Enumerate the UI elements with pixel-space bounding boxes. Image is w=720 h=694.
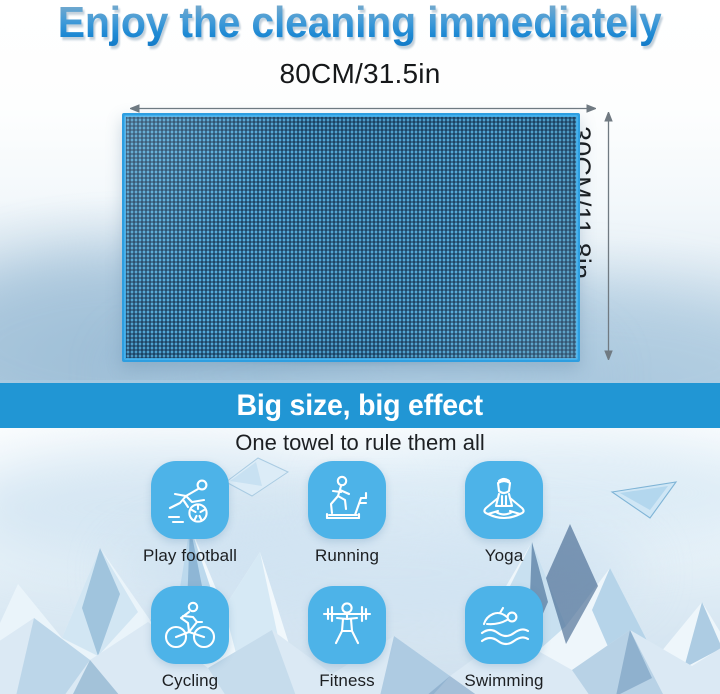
activity-tile[interactable] xyxy=(151,461,229,539)
activity-tile[interactable] xyxy=(151,586,229,664)
activity-item-fitness[interactable]: Fitness xyxy=(272,586,422,691)
activity-label: Yoga xyxy=(429,546,579,566)
activity-label: Play football xyxy=(115,546,265,566)
banner-headline: Big size, big effect xyxy=(237,389,483,423)
headline-title-wrap: Enjoy the cleaning immediately xyxy=(0,0,720,48)
width-dimension-label: 80CM/31.5in xyxy=(0,58,720,90)
activity-label: Swimming xyxy=(429,671,579,691)
activity-tile[interactable] xyxy=(308,586,386,664)
activity-tile[interactable] xyxy=(308,461,386,539)
swimmer-waves-icon xyxy=(476,597,532,653)
activity-item-play-football[interactable]: Play football xyxy=(115,461,265,566)
feature-banner: Big size, big effect xyxy=(0,383,720,428)
football-player-icon xyxy=(162,472,218,528)
lotus-pose-icon xyxy=(476,472,532,528)
activity-item-swimming[interactable]: Swimming xyxy=(429,586,579,691)
headline-title: Enjoy the cleaning immediately xyxy=(58,0,662,48)
activity-item-running[interactable]: Running xyxy=(272,461,422,566)
activity-label: Running xyxy=(272,546,422,566)
towel-border xyxy=(124,115,578,360)
product-infographic: Enjoy the cleaning immediately 80CM/31.5… xyxy=(0,0,720,694)
barbell-lifter-icon xyxy=(319,597,375,653)
activity-item-cycling[interactable]: Cycling xyxy=(115,586,265,691)
width-dimension-arrow xyxy=(130,104,596,113)
activity-grid: Play football Running xyxy=(0,428,720,694)
activity-label: Fitness xyxy=(272,671,422,691)
activity-item-yoga[interactable]: Yoga xyxy=(429,461,579,566)
height-dimension-arrow xyxy=(604,112,613,360)
activity-label: Cycling xyxy=(115,671,265,691)
activity-tile[interactable] xyxy=(465,461,543,539)
treadmill-runner-icon xyxy=(319,472,375,528)
cyclist-icon xyxy=(162,597,218,653)
cooling-towel-product xyxy=(122,113,580,362)
activity-tile[interactable] xyxy=(465,586,543,664)
